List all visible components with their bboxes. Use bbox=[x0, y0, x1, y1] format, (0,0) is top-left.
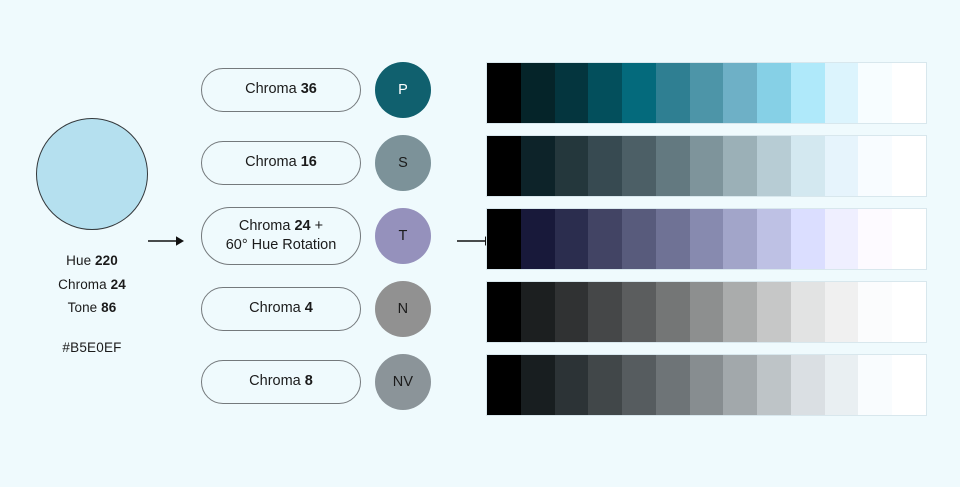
tone-swatch[interactable] bbox=[521, 355, 555, 415]
rule-pill-nv[interactable]: Chroma 8 bbox=[201, 360, 361, 404]
rule-row: Chroma 24 +60° Hue RotationT bbox=[201, 206, 441, 266]
tonal-ramp-tertiary bbox=[487, 209, 926, 269]
tonal-ramp-neutral bbox=[487, 282, 926, 342]
rule-pill-line: Chroma 4 bbox=[249, 299, 313, 318]
tone-swatch[interactable] bbox=[723, 63, 757, 123]
tonal-ramp-neutral-variant bbox=[487, 355, 926, 415]
source-color-specs: Hue 220 Chroma 24 Tone 86 bbox=[58, 254, 126, 315]
tone-swatch[interactable] bbox=[555, 209, 589, 269]
tone-swatch[interactable] bbox=[757, 136, 791, 196]
tone-swatch[interactable] bbox=[521, 136, 555, 196]
rule-row: Chroma 8NV bbox=[201, 352, 441, 412]
tone-swatch[interactable] bbox=[791, 136, 825, 196]
tone-swatch[interactable] bbox=[723, 136, 757, 196]
spec-chroma: Chroma 24 bbox=[58, 278, 126, 292]
tone-swatch[interactable] bbox=[622, 136, 656, 196]
rule-pill-s[interactable]: Chroma 16 bbox=[201, 141, 361, 185]
tone-swatch[interactable] bbox=[892, 355, 926, 415]
rule-pill-line: Chroma 16 bbox=[245, 153, 317, 172]
tone-swatch[interactable] bbox=[825, 63, 859, 123]
rule-pill-line: Chroma 8 bbox=[249, 372, 313, 391]
tone-swatch[interactable] bbox=[825, 355, 859, 415]
role-badge-t[interactable]: T bbox=[375, 208, 431, 264]
tone-swatch[interactable] bbox=[757, 63, 791, 123]
role-badge-label: NV bbox=[393, 374, 414, 390]
generation-rules-list: Chroma 36PChroma 16SChroma 24 +60° Hue R… bbox=[201, 60, 441, 412]
tone-swatch[interactable] bbox=[757, 355, 791, 415]
tone-swatch[interactable] bbox=[487, 282, 521, 342]
tone-swatch[interactable] bbox=[690, 209, 724, 269]
role-badge-label: T bbox=[398, 228, 407, 244]
tone-swatch[interactable] bbox=[555, 282, 589, 342]
tone-swatch[interactable] bbox=[757, 209, 791, 269]
tonal-ramps-group bbox=[487, 63, 926, 415]
tone-swatch[interactable] bbox=[487, 63, 521, 123]
tone-swatch[interactable] bbox=[521, 209, 555, 269]
tone-swatch[interactable] bbox=[622, 355, 656, 415]
spec-chroma-value: 24 bbox=[111, 277, 126, 292]
rule-pill-line: 60° Hue Rotation bbox=[226, 236, 337, 255]
tone-swatch[interactable] bbox=[690, 282, 724, 342]
tone-swatch[interactable] bbox=[825, 136, 859, 196]
tonal-ramp-secondary bbox=[487, 136, 926, 196]
tone-swatch[interactable] bbox=[656, 355, 690, 415]
spec-hue-label: Hue bbox=[66, 253, 91, 268]
role-badge-label: P bbox=[398, 82, 408, 98]
tone-swatch[interactable] bbox=[588, 355, 622, 415]
tone-swatch[interactable] bbox=[791, 282, 825, 342]
tone-swatch[interactable] bbox=[825, 282, 859, 342]
tone-swatch[interactable] bbox=[892, 282, 926, 342]
role-badge-label: S bbox=[398, 155, 408, 171]
role-badge-n[interactable]: N bbox=[375, 281, 431, 337]
tone-swatch[interactable] bbox=[825, 209, 859, 269]
tone-swatch[interactable] bbox=[690, 136, 724, 196]
tone-swatch[interactable] bbox=[588, 63, 622, 123]
tone-swatch[interactable] bbox=[622, 63, 656, 123]
rule-pill-p[interactable]: Chroma 36 bbox=[201, 68, 361, 112]
spec-tone-label: Tone bbox=[68, 300, 98, 315]
tone-swatch[interactable] bbox=[892, 63, 926, 123]
tone-swatch[interactable] bbox=[656, 136, 690, 196]
tone-swatch[interactable] bbox=[588, 282, 622, 342]
rule-row: Chroma 16S bbox=[201, 133, 441, 193]
tone-swatch[interactable] bbox=[791, 209, 825, 269]
tone-swatch[interactable] bbox=[757, 282, 791, 342]
rule-row: Chroma 36P bbox=[201, 60, 441, 120]
tone-swatch[interactable] bbox=[791, 63, 825, 123]
role-badge-p[interactable]: P bbox=[375, 62, 431, 118]
spec-hue-value: 220 bbox=[95, 253, 118, 268]
tone-swatch[interactable] bbox=[487, 355, 521, 415]
spec-hue: Hue 220 bbox=[66, 254, 118, 268]
tone-swatch[interactable] bbox=[892, 209, 926, 269]
tone-swatch[interactable] bbox=[521, 63, 555, 123]
tone-swatch[interactable] bbox=[622, 209, 656, 269]
tone-swatch[interactable] bbox=[555, 355, 589, 415]
rule-pill-line: Chroma 36 bbox=[245, 80, 317, 99]
tone-swatch[interactable] bbox=[588, 209, 622, 269]
tone-swatch[interactable] bbox=[723, 209, 757, 269]
tone-swatch[interactable] bbox=[858, 136, 892, 196]
tone-swatch[interactable] bbox=[690, 63, 724, 123]
tone-swatch[interactable] bbox=[858, 209, 892, 269]
tone-swatch[interactable] bbox=[588, 136, 622, 196]
tone-swatch[interactable] bbox=[622, 282, 656, 342]
tone-swatch[interactable] bbox=[858, 282, 892, 342]
spec-chroma-label: Chroma bbox=[58, 277, 107, 292]
tone-swatch[interactable] bbox=[892, 136, 926, 196]
rule-pill-line: Chroma 24 + bbox=[239, 217, 323, 236]
tone-swatch[interactable] bbox=[858, 63, 892, 123]
tone-swatch[interactable] bbox=[656, 209, 690, 269]
tone-swatch[interactable] bbox=[858, 355, 892, 415]
role-badge-s[interactable]: S bbox=[375, 135, 431, 191]
tone-swatch[interactable] bbox=[555, 63, 589, 123]
spec-tone: Tone 86 bbox=[68, 301, 117, 315]
source-hex-label: #B5E0EF bbox=[62, 341, 121, 355]
tone-swatch[interactable] bbox=[521, 282, 555, 342]
tone-swatch[interactable] bbox=[723, 355, 757, 415]
tone-swatch[interactable] bbox=[656, 282, 690, 342]
tone-swatch[interactable] bbox=[723, 282, 757, 342]
tone-swatch[interactable] bbox=[555, 136, 589, 196]
tone-swatch[interactable] bbox=[656, 63, 690, 123]
arrow-right-icon bbox=[148, 233, 186, 249]
rule-row: Chroma 4N bbox=[201, 279, 441, 339]
role-badge-nv[interactable]: NV bbox=[375, 354, 431, 410]
spec-tone-value: 86 bbox=[101, 300, 116, 315]
role-badge-label: N bbox=[398, 301, 409, 317]
rule-pill-t[interactable]: Chroma 24 +60° Hue Rotation bbox=[201, 207, 361, 265]
tone-swatch[interactable] bbox=[791, 355, 825, 415]
rule-pill-n[interactable]: Chroma 4 bbox=[201, 287, 361, 331]
tone-swatch[interactable] bbox=[487, 209, 521, 269]
tone-swatch[interactable] bbox=[487, 136, 521, 196]
tonal-ramp-primary bbox=[487, 63, 926, 123]
source-color-swatch bbox=[36, 118, 148, 230]
tonal-palette-diagram: Hue 220 Chroma 24 Tone 86 #B5E0EF Chroma… bbox=[0, 0, 960, 487]
tone-swatch[interactable] bbox=[690, 355, 724, 415]
